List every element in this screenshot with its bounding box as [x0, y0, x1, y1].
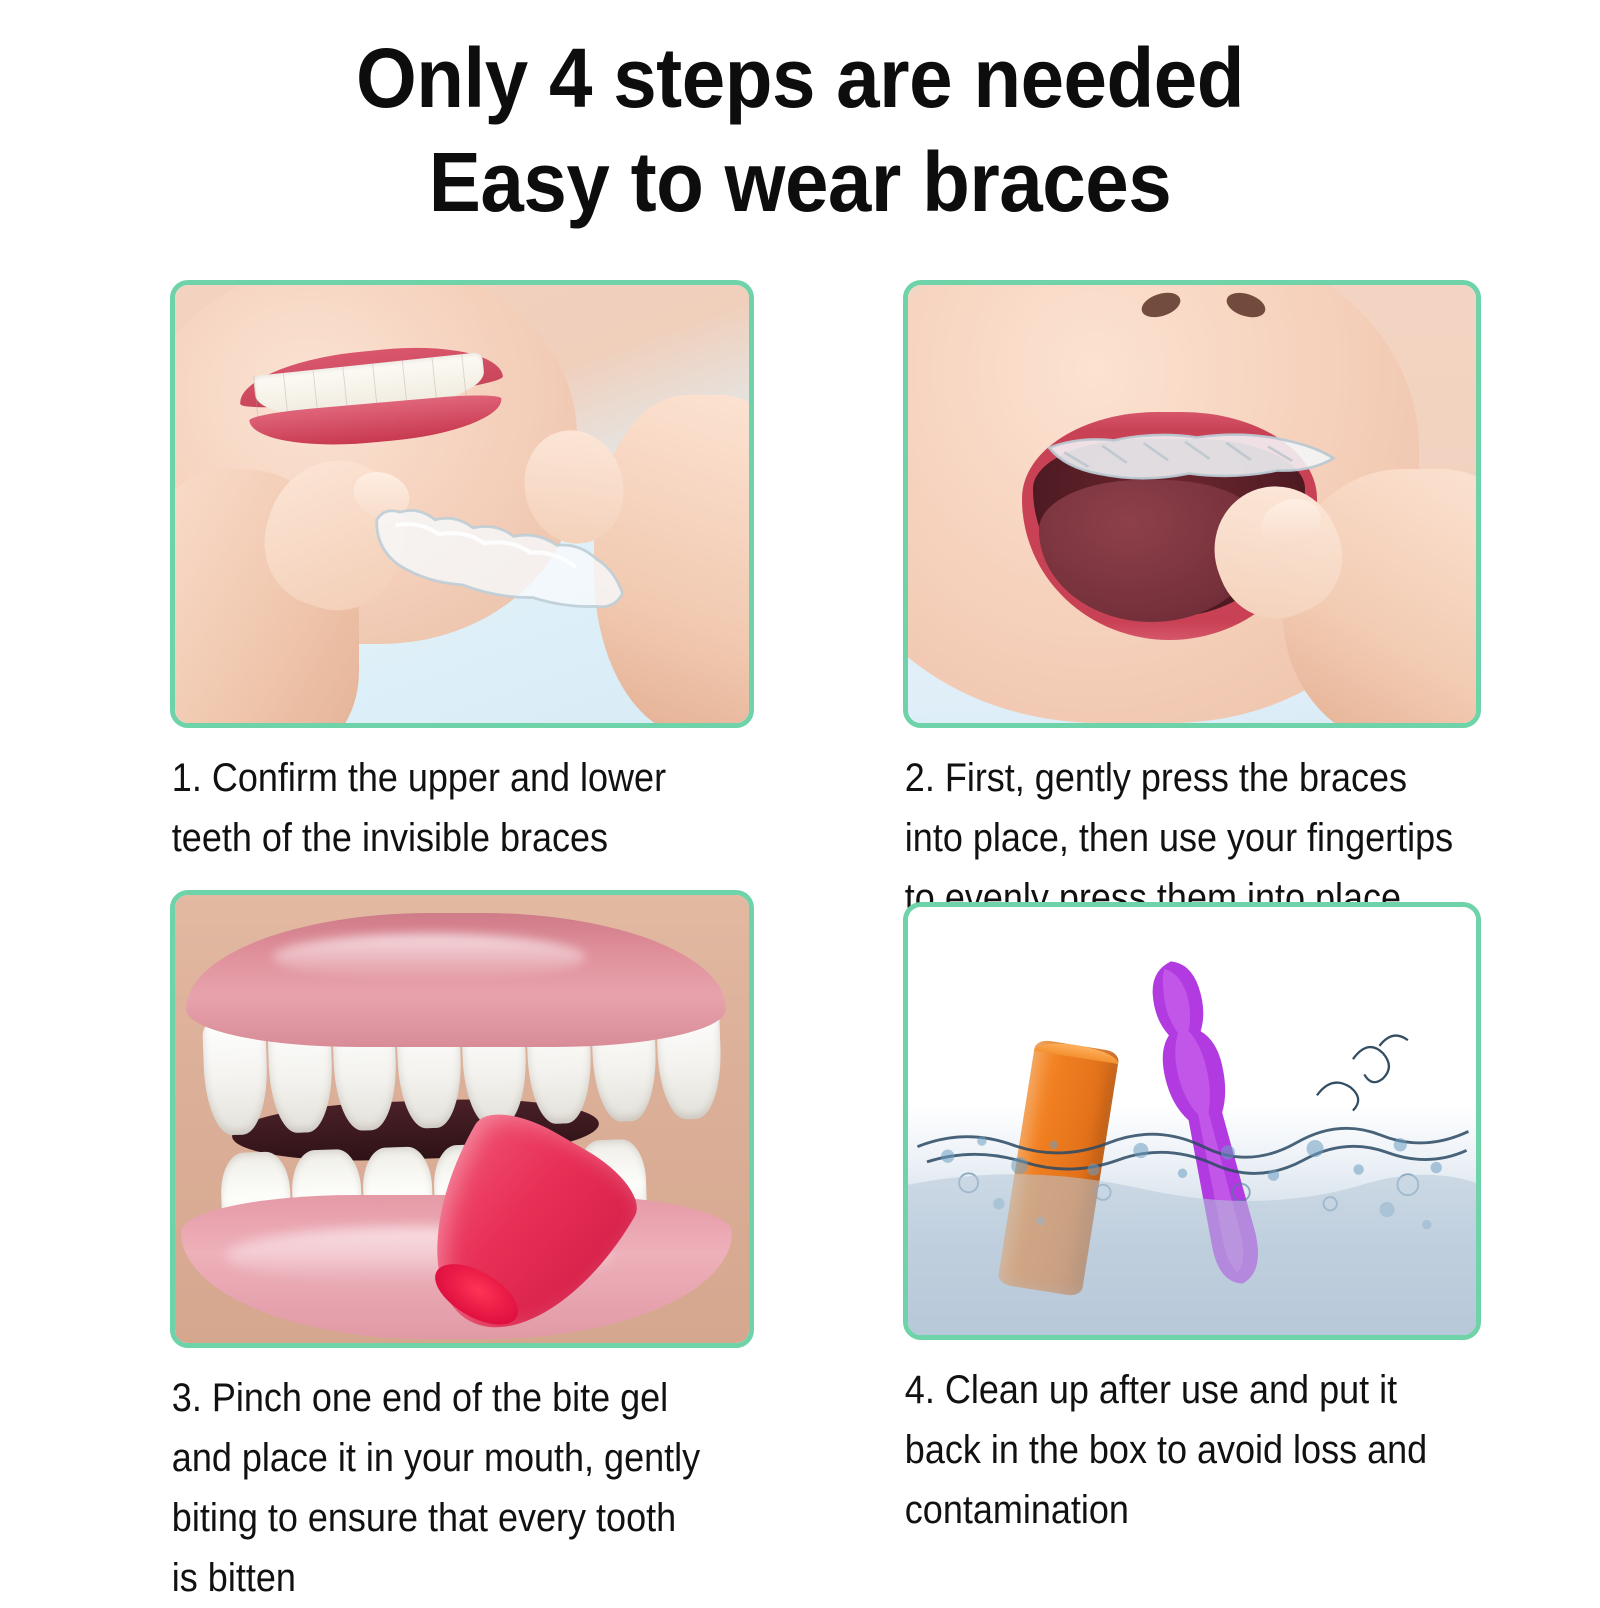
step-card-1: 1. Confirm the upper and lower teeth of …: [170, 280, 754, 868]
caption-line: 2. First, gently press the braces: [905, 748, 1423, 808]
clear-aligner-icon: [1043, 424, 1340, 496]
step-4-photo: [903, 902, 1481, 1340]
step-3-photo: [170, 890, 754, 1348]
caption-line: into place, then use your fingertips: [905, 808, 1423, 868]
caption-line: back in the box to avoid loss and: [905, 1420, 1423, 1480]
caption-line: 1. Confirm the upper and lower: [172, 748, 696, 808]
caption-line: 4. Clean up after use and put it: [905, 1360, 1423, 1420]
step-4-caption: 4. Clean up after use and put it back in…: [903, 1360, 1423, 1540]
caption-line: and place it in your mouth, gently: [172, 1428, 696, 1488]
caption-line: teeth of the invisible braces: [172, 808, 696, 868]
caption-line: 3. Pinch one end of the bite gel: [172, 1368, 696, 1428]
step-1-caption: 1. Confirm the upper and lower teeth of …: [170, 748, 696, 868]
caption-line: is bitten: [172, 1548, 696, 1608]
caption-line: contamination: [905, 1480, 1423, 1540]
step-3-caption: 3. Pinch one end of the bite gel and pla…: [170, 1368, 696, 1608]
steps-grid: 1. Confirm the upper and lower teeth of …: [0, 0, 1600, 1600]
step-1-photo: [170, 280, 754, 728]
step-card-4: 4. Clean up after use and put it back in…: [903, 902, 1481, 1540]
water-splash: [908, 907, 1476, 1335]
step-2-photo: [903, 280, 1481, 728]
step-2-caption: 2. First, gently press the braces into p…: [903, 748, 1423, 928]
caption-line: biting to ensure that every tooth: [172, 1488, 696, 1548]
step-card-2: 2. First, gently press the braces into p…: [903, 280, 1481, 928]
step-card-3: 3. Pinch one end of the bite gel and pla…: [170, 890, 754, 1608]
